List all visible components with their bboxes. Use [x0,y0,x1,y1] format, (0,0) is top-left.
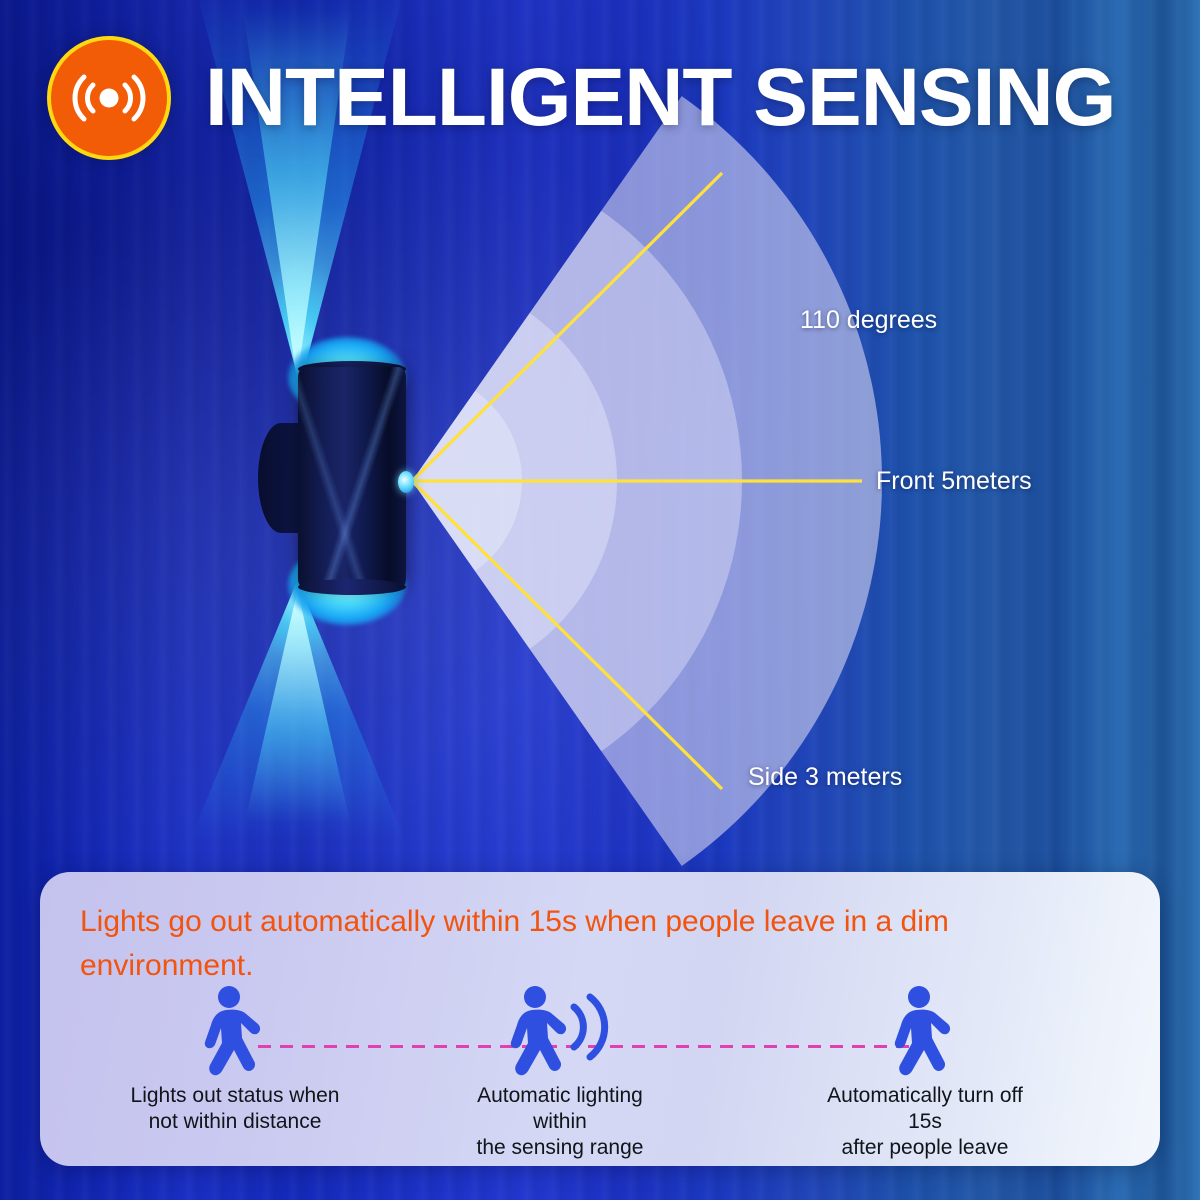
label-front-distance: Front 5meters [876,467,1032,496]
step-1: Lights out status when not within distan… [130,985,340,1135]
panel-headline: Lights go out automatically within 15s w… [80,900,1120,988]
step-2: Automatic lighting within the sensing ra… [455,985,665,1161]
signal-sensor-icon [70,59,148,137]
pir-sensor-dot [398,471,414,493]
label-side-distance: Side 3 meters [748,763,902,792]
step-3-caption: Automatically turn off 15s after people … [820,1083,1030,1161]
lamp-body [298,367,406,589]
lamp-bottom-cap [298,579,406,595]
label-detection-angle: 110 degrees [800,306,937,335]
step-3: Automatically turn off 15s after people … [820,985,1030,1161]
wall-lamp [270,345,430,615]
walking-person-sensing-icon [455,985,665,1077]
infographic-canvas: INTELLIGENT SENSING 110 degrees Front 5m… [0,0,1200,1200]
step-1-caption: Lights out status when not within distan… [130,1083,340,1135]
sensor-badge [47,36,171,160]
walking-person-icon [130,985,340,1077]
walking-person-icon [820,985,1030,1077]
step-2-caption: Automatic lighting within the sensing ra… [455,1083,665,1161]
page-title: INTELLIGENT SENSING [205,48,1165,148]
